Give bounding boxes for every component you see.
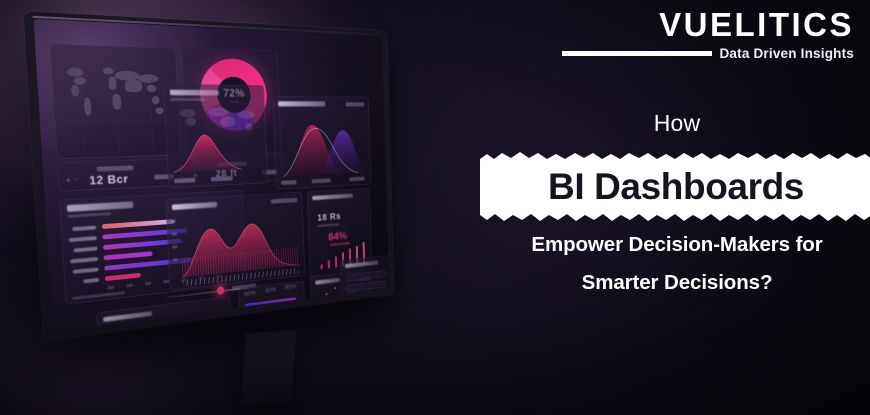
usage-col-c: [176, 318, 194, 325]
session-point-1: [317, 304, 319, 306]
bar-label-4: [70, 257, 98, 263]
monthly-y-tick-3: [172, 245, 177, 248]
channel-footnote: [72, 291, 125, 300]
logo-tagline: Data Driven Insights: [719, 47, 854, 61]
logo-wordmark: VUELITICS: [562, 8, 854, 41]
torn-paper-banner: BI Dashboards: [480, 150, 870, 224]
usage-title: [103, 311, 152, 322]
detail-row-3: [346, 290, 387, 303]
dual-axis-label-c: [349, 177, 365, 182]
kpi-right-note: [330, 242, 350, 246]
monitor-illustration: 12 Bcr ▲ — 72% TOTAL 28 ft ◆: [34, 14, 484, 406]
card-monthly-trend: [165, 192, 305, 291]
kpi-left-tag: [97, 165, 134, 171]
bar-label-6: [83, 278, 99, 283]
gauge-spikes: [245, 309, 300, 324]
monthly-legend: [271, 198, 297, 204]
monitor-bezel: 12 Bcr ▲ — 72% TOTAL 28 ft ◆: [23, 11, 394, 341]
gauge-bar-purple: [245, 297, 297, 309]
bar-axis-tick-1: [107, 286, 114, 290]
dual-axis-label-b: [312, 178, 331, 183]
world-map-graphic: [51, 45, 180, 158]
logo-tagline-row: Data Driven Insights: [562, 47, 854, 61]
bar-axis-tick-2: [126, 284, 133, 287]
headline-highlight: BI Dashboards: [480, 150, 870, 224]
bar-label-1: [72, 226, 96, 232]
channel-title: [67, 201, 134, 212]
dual-distribution-chart: [274, 115, 371, 176]
kpi-right-percent: 84%: [328, 229, 347, 243]
monthly-y-tick-1: [171, 220, 176, 223]
mini-bar-1: [320, 264, 322, 269]
logo-rule: [562, 51, 712, 56]
bar-4: [104, 251, 153, 260]
gauge-icon-left[interactable]: [246, 327, 255, 332]
usage-value-a: [207, 324, 224, 331]
bar-label-5: [73, 268, 99, 274]
card-regional-map: [163, 84, 268, 188]
gauge-bar-pink: [245, 305, 300, 317]
detail-table-title: [345, 261, 378, 269]
kpi-right-subtitle: [318, 223, 340, 227]
session-title: [315, 278, 340, 285]
gauge-value-3: 80%: [285, 284, 296, 291]
mini-bar-3: [335, 256, 338, 268]
usage-cell-5: [178, 326, 197, 331]
headline-line-2: Smarter Decisions?: [486, 271, 868, 295]
card-detail-table: [340, 254, 389, 313]
card-dual-distribution: [272, 96, 371, 190]
monitor-stand: [241, 330, 297, 407]
brand-logo[interactable]: VUELITICS Data Driven Insights: [562, 8, 854, 61]
kpi-right-title: [312, 194, 353, 201]
bar-6: [105, 273, 141, 281]
mini-bar-2: [328, 260, 330, 268]
card-global-map: [50, 44, 181, 159]
bar-axis-tick-3: [145, 282, 152, 285]
headline-line-1: Empower Decision-Makers for: [486, 233, 868, 257]
gauge-icon-right[interactable]: [292, 320, 301, 330]
usage-col-d: [205, 314, 224, 321]
card-dual-legend: [346, 102, 365, 106]
card-gauge-row: 60% 40% 80% 01 0 1 0: [238, 280, 305, 331]
usage-col-a: [106, 329, 123, 332]
regional-area-chart: [166, 127, 268, 173]
card-kpi-left: 12 Bcr ▲ —: [57, 158, 183, 192]
kpi-right-value: 18 Rs: [317, 212, 341, 224]
bar-label-3: [73, 247, 97, 253]
gauge-value-2: 40%: [265, 287, 276, 294]
card-usage-summary: [96, 296, 233, 331]
monthly-y-tick-2: [171, 233, 176, 236]
progress-knob[interactable]: [217, 286, 225, 295]
headline-eyebrow: How: [486, 110, 868, 137]
kpi-left-value: 12 Bcr: [89, 172, 129, 187]
detail-row-2: [346, 280, 387, 292]
channel-subtitle: [67, 212, 111, 218]
bar-label-2: [69, 236, 97, 242]
usage-col-b: [145, 322, 158, 328]
kpi-left-badge-a: ▲ —: [65, 177, 79, 183]
dual-axis-label-a: [281, 180, 297, 185]
card-dual-title: [278, 101, 325, 106]
monthly-title: [172, 202, 217, 210]
bar-1: [102, 219, 175, 229]
gauge-value-1: 60%: [244, 290, 256, 297]
session-point-4: [343, 297, 344, 299]
blog-hero-banner: 12 Bcr ▲ — 72% TOTAL 28 ft ◆: [0, 0, 870, 415]
dashboard-screen: 12 Bcr ▲ — 72% TOTAL 28 ft ◆: [33, 19, 389, 332]
usage-cell-3: [146, 330, 166, 331]
monthly-y-tick-4: [173, 258, 178, 261]
